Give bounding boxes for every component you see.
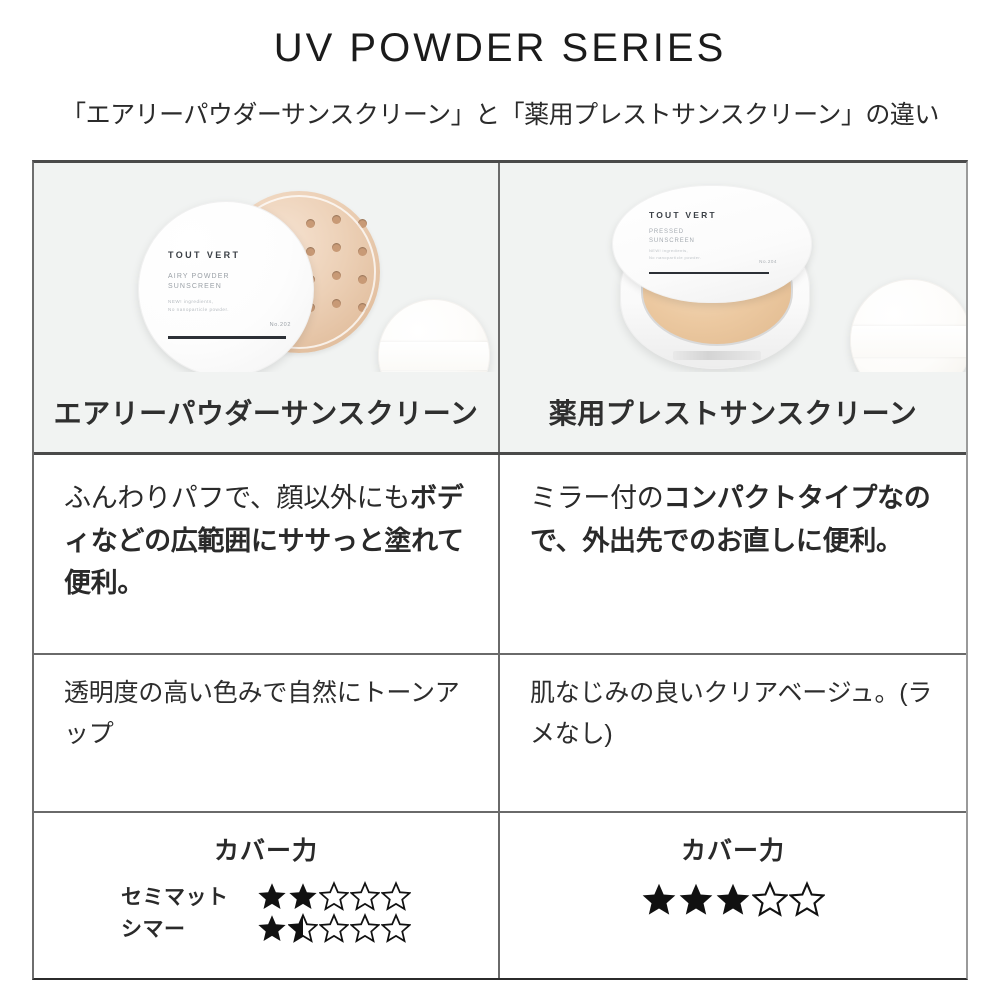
shade-cell-airy-powder: 透明度の高い色みで自然にトーンアップ [34,655,500,811]
star-filled-icon [257,881,287,911]
coverage-cell-medicated-pressed: カバー力 [500,813,966,978]
table-row-coverage: カバー力 セミマットシマー カバー力 [34,813,966,978]
lid-accent-bar [168,336,286,339]
product-cell-airy-powder: TOUT VERT AIRY POWDERSUNSCREEN NEW! ingr… [34,163,500,452]
product-code-label: No.204 [759,259,777,264]
star-empty-icon [319,881,349,911]
pressed-compact-illustration: TOUT VERT PRESSEDSUNSCREEN NEW! ingredie… [612,185,912,372]
table-row-features: ふんわりパフで、顔以外にもボディなどの広範囲にササっと塗れて便利。 ミラー付のコ… [34,455,966,655]
star-filled-icon [641,881,677,917]
table-row-products: TOUT VERT AIRY POWDERSUNSCREEN NEW! ingr… [34,163,966,455]
fine-print-label: NEW! ingredients,No nanoparticle powder. [649,248,701,262]
comparison-table: TOUT VERT AIRY POWDERSUNSCREEN NEW! ingr… [32,160,968,980]
coverage-block-medicated-pressed: カバー力 [500,813,966,917]
rating-label: シマー [121,913,257,943]
product-name-airy-powder: エアリーパウダーサンスクリーン [34,372,498,452]
star-empty-icon [319,913,349,943]
brand-label: TOUT VERT [168,250,240,260]
compact-hinge [673,351,761,360]
product-image-medicated-pressed: TOUT VERT PRESSEDSUNSCREEN NEW! ingredie… [500,163,966,372]
compact-lid: TOUT VERT PRESSEDSUNSCREEN NEW! ingredie… [612,185,812,303]
feature-plain-text: ふんわりパフで、顔以外にも [64,483,410,513]
rating-row: セミマット [121,881,411,911]
star-rating [641,881,825,917]
powder-puff [378,299,490,372]
lid-accent-bar [649,272,769,274]
page-subtitle: 「エアリーパウダーサンスクリーン」と「薬用プレストサンスクリーン」の違い [0,100,1000,130]
star-rating [257,913,411,943]
star-empty-icon [789,881,825,917]
table-row-shade: 透明度の高い色みで自然にトーンアップ 肌なじみの良いクリアベージュ。(ラメなし) [34,655,966,813]
sifter-holes [304,213,372,331]
star-empty-icon [752,881,788,917]
coverage-title: カバー力 [214,831,318,867]
product-cell-medicated-pressed: TOUT VERT PRESSEDSUNSCREEN NEW! ingredie… [500,163,966,452]
star-empty-icon [350,881,380,911]
page-title: UV POWDER SERIES [0,26,1000,70]
powder-puff [850,279,966,372]
coverage-title: カバー力 [681,831,785,867]
star-rating [257,881,411,911]
coverage-block-airy-powder: カバー力 セミマットシマー [34,813,498,943]
star-empty-icon [350,913,380,943]
fine-print-label: NEW! ingredients,No nanoparticle powder. [168,298,229,314]
rating-list-medicated-pressed [641,881,825,917]
product-line-label: PRESSEDSUNSCREEN [649,228,695,246]
rating-row [641,881,825,917]
product-name-medicated-pressed: 薬用プレストサンスクリーン [500,372,966,452]
product-code-label: No.202 [270,322,291,328]
star-empty-icon [381,913,411,943]
product-image-airy-powder: TOUT VERT AIRY POWDERSUNSCREEN NEW! ingr… [34,163,498,372]
shade-text-airy-powder: 透明度の高い色みで自然にトーンアップ [34,655,498,754]
star-filled-icon [257,913,287,943]
star-filled-icon [678,881,714,917]
coverage-cell-airy-powder: カバー力 セミマットシマー [34,813,500,978]
rating-list-airy-powder: セミマットシマー [121,881,411,943]
star-empty-icon [381,881,411,911]
star-half-icon [288,913,318,943]
feature-text-medicated-pressed: ミラー付のコンパクトタイプなので、外出先でのお直しに便利。 [500,455,966,562]
uv-powder-series-comparison-page: UV POWDER SERIES 「エアリーパウダーサンスクリーン」と「薬用プレ… [0,0,1000,1000]
star-filled-icon [715,881,751,917]
product-line-label: AIRY POWDERSUNSCREEN [168,272,230,292]
shade-text-medicated-pressed: 肌なじみの良いクリアベージュ。(ラメなし) [500,655,966,754]
loose-powder-jar-illustration: TOUT VERT AIRY POWDERSUNSCREEN NEW! ingr… [138,187,438,372]
rating-row: シマー [121,913,411,943]
star-filled-icon [288,881,318,911]
rating-label: セミマット [121,881,257,911]
feature-cell-medicated-pressed: ミラー付のコンパクトタイプなので、外出先でのお直しに便利。 [500,455,966,653]
brand-label: TOUT VERT [649,210,717,220]
shade-cell-medicated-pressed: 肌なじみの良いクリアベージュ。(ラメなし) [500,655,966,811]
feature-cell-airy-powder: ふんわりパフで、顔以外にもボディなどの広範囲にササっと塗れて便利。 [34,455,500,653]
jar-lid: TOUT VERT AIRY POWDERSUNSCREEN NEW! ingr… [138,201,314,372]
feature-plain-text: ミラー付の [530,483,664,513]
feature-text-airy-powder: ふんわりパフで、顔以外にもボディなどの広範囲にササっと塗れて便利。 [34,455,498,605]
